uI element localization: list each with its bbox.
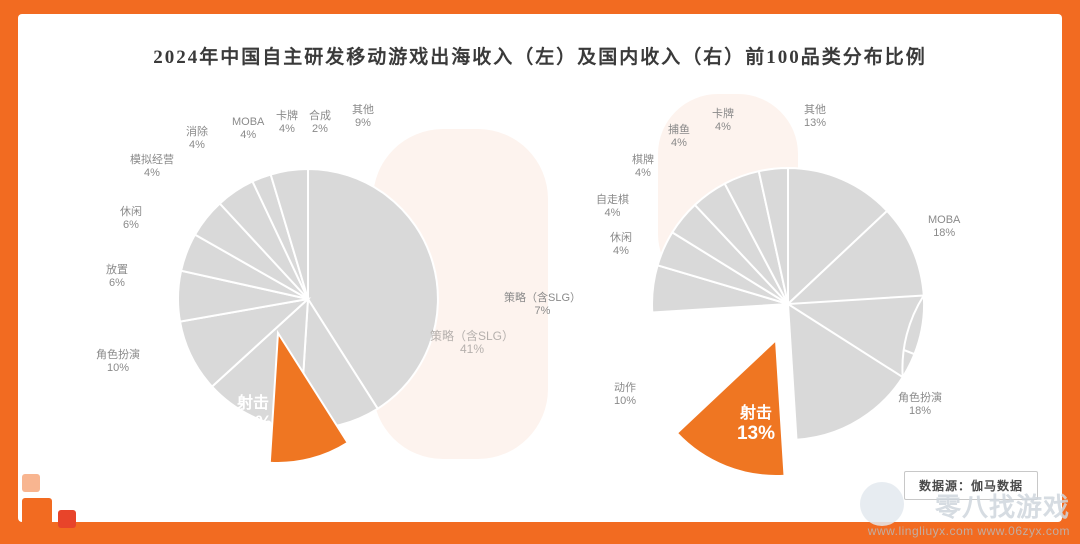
page-title: 2024年中国自主研发移动游戏出海收入（左）及国内收入（右）前100品类分布比例 xyxy=(18,42,1062,69)
right-label-qita-name: 其他 xyxy=(804,104,826,117)
left-label-xiaochu: 消除 4% xyxy=(186,126,208,152)
left-label-hecheng: 合成 2% xyxy=(309,110,331,136)
chart-area: 2024年中国自主研发移动游戏出海收入（左）及国内收入（右）前100品类分布比例 xyxy=(18,14,1062,522)
right-label-zizouqi: 自走棋 4% xyxy=(596,194,629,220)
right-label-shooting: 射击 13% xyxy=(706,404,806,445)
left-label-celue-pct: 41% xyxy=(430,343,514,356)
left-label-kapai-name: 卡牌 xyxy=(276,110,298,123)
right-label-juesebanyan-pct: 18% xyxy=(898,405,942,418)
right-label-kapai-pct: 4% xyxy=(712,121,734,134)
left-label-hecheng-pct: 2% xyxy=(309,123,331,136)
right-label-juesebanyan: 角色扮演 18% xyxy=(898,392,942,418)
left-label-fangzhi-name: 放置 xyxy=(106,264,128,277)
right-label-buyu: 捕鱼 4% xyxy=(668,124,690,150)
right-label-moba: MOBA 18% xyxy=(928,214,960,240)
right-label-qipai: 棋牌 4% xyxy=(632,154,654,180)
left-label-qita-name: 其他 xyxy=(352,104,374,117)
right-label-kapai-name: 卡牌 xyxy=(712,108,734,121)
right-label-qipai-pct: 4% xyxy=(632,167,654,180)
left-label-shooting: 射击 10% xyxy=(208,394,298,435)
right-label-juesebanyan-name: 角色扮演 xyxy=(898,392,942,405)
left-label-monijingying-name: 模拟经营 xyxy=(130,154,174,167)
right-label-buyu-name: 捕鱼 xyxy=(668,124,690,137)
left-label-qita-pct: 9% xyxy=(352,117,374,130)
right-label-celue: 策略（含SLG） 7% xyxy=(504,292,581,318)
left-label-monijingying: 模拟经营 4% xyxy=(130,154,174,180)
left-label-xiaochu-pct: 4% xyxy=(186,139,208,152)
left-label-xiaochu-name: 消除 xyxy=(186,126,208,139)
right-label-qita: 其他 13% xyxy=(804,104,826,130)
left-label-juesebanyan-name: 角色扮演 xyxy=(96,349,140,362)
right-label-zizouqi-name: 自走棋 xyxy=(596,194,629,207)
left-label-qita: 其他 9% xyxy=(352,104,374,130)
left-label-xiuxian-name: 休闲 xyxy=(120,206,142,219)
right-label-qita-pct: 13% xyxy=(804,117,826,130)
right-label-zizouqi-pct: 4% xyxy=(596,207,629,220)
left-label-shooting-name: 射击 xyxy=(208,394,298,413)
left-label-shooting-pct: 10% xyxy=(208,413,298,435)
pie-chart-left xyxy=(148,134,478,474)
left-label-xiuxian: 休闲 6% xyxy=(120,206,142,232)
right-label-dongzuo: 动作 10% xyxy=(614,382,636,408)
right-label-kapai: 卡牌 4% xyxy=(712,108,734,134)
left-label-fangzhi: 放置 6% xyxy=(106,264,128,290)
left-label-juesebanyan: 角色扮演 10% xyxy=(96,349,140,375)
right-label-moba-name: MOBA xyxy=(928,214,960,227)
right-label-dongzuo-pct: 10% xyxy=(614,395,636,408)
right-label-shooting-pct: 13% xyxy=(706,423,806,445)
right-label-buyu-pct: 4% xyxy=(668,137,690,150)
left-label-fangzhi-pct: 6% xyxy=(106,277,128,290)
right-label-xiuxian-name: 休闲 xyxy=(610,232,632,245)
left-label-celue: 策略（含SLG） 41% xyxy=(430,330,514,356)
source-note: 数据源：伽马数据 xyxy=(904,471,1038,500)
right-label-celue-pct: 7% xyxy=(504,305,581,318)
left-label-hecheng-name: 合成 xyxy=(309,110,331,123)
right-label-xiuxian: 休闲 4% xyxy=(610,232,632,258)
right-label-dongzuo-name: 动作 xyxy=(614,382,636,395)
left-label-xiuxian-pct: 6% xyxy=(120,219,142,232)
right-label-moba-pct: 18% xyxy=(928,227,960,240)
right-label-qipai-name: 棋牌 xyxy=(632,154,654,167)
left-label-monijingying-pct: 4% xyxy=(130,167,174,180)
left-label-kapai: 卡牌 4% xyxy=(276,110,298,136)
left-label-moba-pct: 4% xyxy=(232,129,264,142)
right-label-celue-name: 策略（含SLG） xyxy=(504,292,581,305)
left-label-juesebanyan-pct: 10% xyxy=(96,362,140,375)
left-label-moba: MOBA 4% xyxy=(232,116,264,142)
left-label-moba-name: MOBA xyxy=(232,116,264,129)
left-label-kapai-pct: 4% xyxy=(276,123,298,136)
right-label-shooting-name: 射击 xyxy=(706,404,806,423)
right-label-xiuxian-pct: 4% xyxy=(610,245,632,258)
